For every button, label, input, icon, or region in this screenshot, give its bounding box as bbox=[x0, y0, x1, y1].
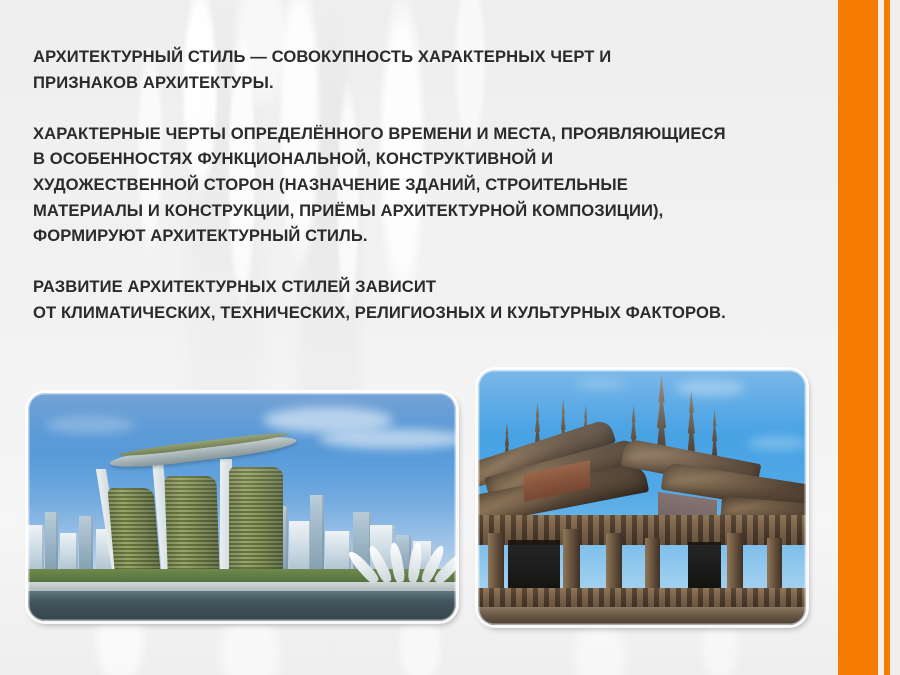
cloud bbox=[576, 378, 626, 390]
text-line: ХУДОЖЕСТВЕННОЙ СТОРОН (НАЗНАЧЕНИЕ ЗДАНИЙ… bbox=[33, 172, 823, 198]
text-line: ФОРМИРУЮТ АРХИТЕКТУРНЫЙ СТИЛЬ. bbox=[33, 223, 823, 249]
building bbox=[60, 533, 78, 571]
paragraph-definition: АРХИТЕКТУРНЫЙ СТИЛЬ — СОВОКУПНОСТЬ ХАРАК… bbox=[33, 44, 823, 95]
text-line: АРХИТЕКТУРНЫЙ СТИЛЬ — СОВОКУПНОСТЬ ХАРАК… bbox=[33, 44, 823, 70]
temple-plinth bbox=[478, 607, 806, 625]
interior-bay bbox=[688, 542, 721, 588]
accent-bar-wide bbox=[838, 0, 878, 675]
marina-bay-sands-scene bbox=[28, 393, 456, 621]
building bbox=[325, 531, 351, 571]
photo-marina-bay-sands bbox=[28, 393, 456, 621]
body-text: ХУДОЖЕСТВЕННОЙ СТОРОН (НАЗНАЧЕНИЕ ЗДАНИЙ… bbox=[33, 175, 628, 194]
body-text: — СОВОКУПНОСТЬ ХАРАКТЕРНЫХ ЧЕРТ И bbox=[246, 47, 612, 66]
text-line: ОТ КЛИМАТИЧЕСКИХ, ТЕХНИЧЕСКИХ, РЕЛИГИОЗН… bbox=[33, 300, 823, 326]
slide-canvas: АРХИТЕКТУРНЫЙ СТИЛЬ — СОВОКУПНОСТЬ ХАРАК… bbox=[0, 0, 900, 675]
emphasized-text: АРХИТЕКТУРНЫЙ СТИЛЬ. bbox=[150, 226, 367, 245]
cloud bbox=[45, 416, 135, 434]
building bbox=[310, 495, 324, 571]
body-text: ПРИЗНАКОВ АРХИТЕКТУРЫ. bbox=[33, 73, 274, 92]
paragraph-factors: РАЗВИТИЕ АРХИТЕКТУРНЫХ СТИЛЕЙ ЗАВИСИТОТ … bbox=[33, 274, 823, 325]
emphasized-text: АРХИТЕКТУРНЫЙ СТИЛЬ bbox=[33, 47, 246, 66]
paragraph-features: ХАРАКТЕРНЫЕ ЧЕРТЫ ОПРЕДЕЛЁННОГО ВРЕМЕНИ … bbox=[33, 121, 823, 249]
body-text: В ОСОБЕННОСТЯХ ФУНКЦИОНАЛЬНОЙ, КОНСТРУКТ… bbox=[33, 149, 553, 168]
body-text: ХАРАКТЕРНЫЕ ЧЕРТЫ ОПРЕДЕЛЁННОГО ВРЕМЕНИ … bbox=[33, 124, 726, 143]
building bbox=[289, 521, 311, 571]
artscience-museum bbox=[371, 534, 443, 582]
body-text: ОТ КЛИМАТИЧЕСКИХ, ТЕХНИЧЕСКИХ, РЕЛИГИОЗН… bbox=[33, 303, 726, 322]
temple-structure bbox=[478, 396, 806, 626]
photo-sanctuary-of-truth bbox=[478, 370, 806, 625]
building bbox=[79, 516, 93, 571]
accent-bar-edge bbox=[890, 0, 900, 675]
marina-bay-water bbox=[28, 591, 456, 621]
body-text: ФОРМИРУЮТ bbox=[33, 226, 150, 245]
sanctuary-of-truth-scene bbox=[478, 370, 806, 625]
body-text: МАТЕРИАЛЫ И КОНСТРУКЦИИ, ПРИЁМЫ АРХИТЕКТ… bbox=[33, 201, 663, 220]
slide-text-block: АРХИТЕКТУРНЫЙ СТИЛЬ — СОВОКУПНОСТЬ ХАРАК… bbox=[33, 44, 823, 326]
building bbox=[45, 512, 58, 571]
paragraph-spacer bbox=[33, 249, 823, 275]
text-line: ПРИЗНАКОВ АРХИТЕКТУРЫ. bbox=[33, 70, 823, 96]
text-line: В ОСОБЕННОСТЯХ ФУНКЦИОНАЛЬНОЙ, КОНСТРУКТ… bbox=[33, 146, 823, 172]
tower bbox=[108, 488, 161, 571]
text-line: МАТЕРИАЛЫ И КОНСТРУКЦИИ, ПРИЁМЫ АРХИТЕКТ… bbox=[33, 198, 823, 224]
building bbox=[28, 525, 44, 571]
text-line: РАЗВИТИЕ АРХИТЕКТУРНЫХ СТИЛЕЙ ЗАВИСИТ bbox=[33, 274, 823, 300]
marina-bay-sands-towers bbox=[101, 452, 277, 571]
interior-bay bbox=[508, 540, 560, 590]
paragraph-spacer bbox=[33, 95, 823, 121]
body-text: РАЗВИТИЕ АРХИТЕКТУРНЫХ СТИЛЕЙ ЗАВИСИТ bbox=[33, 277, 436, 296]
tower bbox=[164, 476, 219, 571]
text-line: ХАРАКТЕРНЫЕ ЧЕРТЫ ОПРЕДЕЛЁННОГО ВРЕМЕНИ … bbox=[33, 121, 823, 147]
tower bbox=[229, 467, 283, 571]
